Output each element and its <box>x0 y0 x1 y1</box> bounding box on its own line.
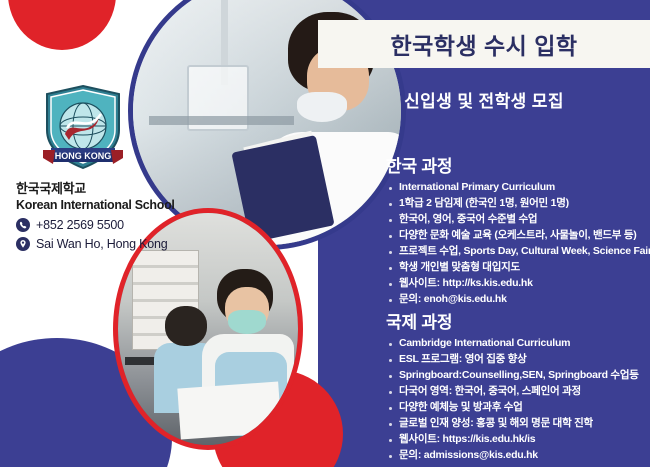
list-item: 1학급 2 담임제 (한국인 1명, 원어민 1명) <box>386 197 648 210</box>
list-item: 글로벌 인재 양성: 홍콩 및 해외 명문 대학 진학 <box>386 417 648 430</box>
contact-details: +852 2569 5500 Sai Wan Ho, Hong Kong <box>16 218 206 256</box>
map-pin-icon <box>16 237 30 251</box>
page-subtitle: 신입생 및 전학생 모집 <box>404 87 564 112</box>
phone-icon <box>16 218 30 232</box>
red-circle-decoration-top <box>8 0 116 50</box>
poster-subtitle-band: 신입생 및 전학생 모집 <box>318 82 650 116</box>
list-item: ESL 프로그램: 영어 집중 향상 <box>386 353 648 366</box>
list-item: 프로젝트 수업, Sports Day, Cultural Week, Scie… <box>386 245 648 258</box>
international-program-section: 국제 과정 Cambridge International Curriculum… <box>386 308 648 465</box>
list-item-email[interactable]: 문의: admissions@kis.edu.hk <box>386 449 648 462</box>
international-program-title: 국제 과정 <box>386 308 648 333</box>
list-item: Cambridge International Curriculum <box>386 337 648 350</box>
page-title: 한국학생 수시 입학 <box>390 27 577 61</box>
list-item: 다양한 예체능 및 방과후 수업 <box>386 401 648 414</box>
list-item-website[interactable]: 웹사이트: http://ks.kis.edu.hk <box>386 277 648 290</box>
contact-location-text: Sai Wan Ho, Hong Kong <box>36 237 168 251</box>
list-item: Springboard:Counselling,SEN, Springboard… <box>386 369 648 382</box>
list-item: 학생 개인별 맞춤형 대입지도 <box>386 261 648 274</box>
poster-title-band: 한국학생 수시 입학 <box>318 20 650 68</box>
list-item: 다국어 영역: 한국어, 중국어, 스페인어 과정 <box>386 385 648 398</box>
school-branding: HONG KONG 한국국제학교 Korean International Sc… <box>8 84 158 212</box>
contact-phone-text: +852 2569 5500 <box>36 218 124 232</box>
list-item: 한국어, 영어, 중국어 수준별 수업 <box>386 213 648 226</box>
korean-program-list: International Primary Curriculum 1학급 2 담… <box>386 181 648 306</box>
school-name-korean: 한국국제학교 <box>16 178 158 197</box>
international-program-list: Cambridge International Curriculum ESL 프… <box>386 337 648 462</box>
student-one-head <box>165 306 207 346</box>
list-item-website[interactable]: 웹사이트: https://kis.edu.hk/is <box>386 433 648 446</box>
list-item-email[interactable]: 문의: enoh@kis.edu.hk <box>386 293 648 306</box>
school-name-english: Korean International School <box>16 198 158 212</box>
admissions-poster: HONG KONG 한국국제학교 Korean International Sc… <box>0 0 650 467</box>
lab-bench <box>149 116 294 125</box>
list-item: 다양한 문화 예술 교육 (오케스트라, 사물놀이, 밴드부 등) <box>386 229 648 242</box>
contact-location-row[interactable]: Sai Wan Ho, Hong Kong <box>16 237 206 251</box>
svg-text:HONG KONG: HONG KONG <box>55 151 112 161</box>
contact-phone-row[interactable]: +852 2569 5500 <box>16 218 206 232</box>
korean-program-title: 한국 과정 <box>386 152 648 177</box>
korean-program-section: 한국 과정 International Primary Curriculum 1… <box>386 152 648 309</box>
sketch-paper <box>178 381 282 439</box>
school-crest-shield-icon: HONG KONG <box>41 84 125 172</box>
list-item: International Primary Curriculum <box>386 181 648 194</box>
